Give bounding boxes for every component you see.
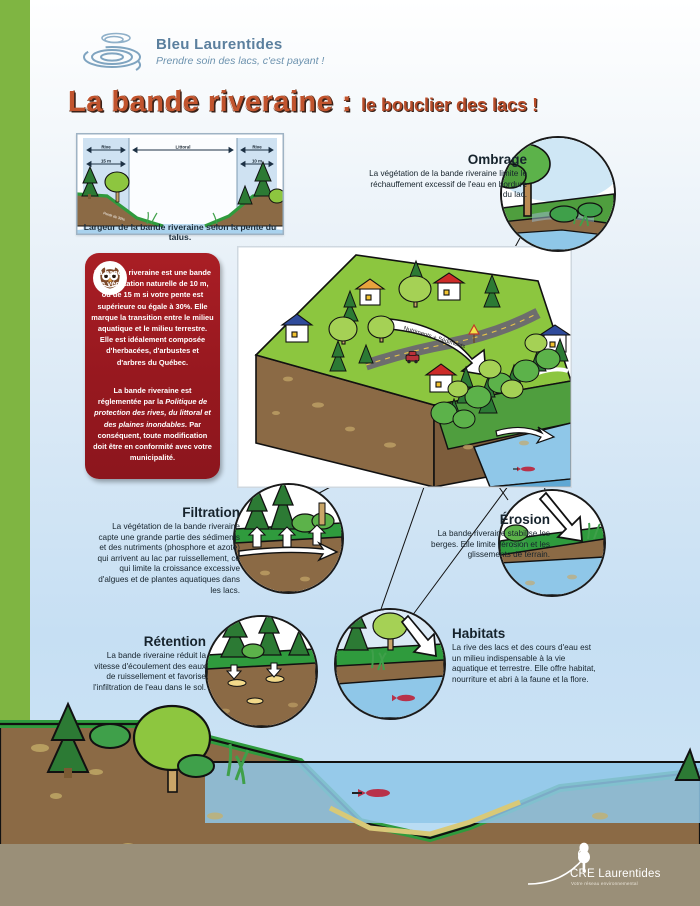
habitats-illustration — [334, 608, 446, 720]
cre-org-tagline: Votre réseau environnemental — [571, 881, 638, 886]
svg-text:Rive: Rive — [252, 145, 262, 150]
svg-text:Littoral: Littoral — [176, 145, 191, 150]
filtration-illustration — [233, 483, 344, 594]
page-title-sub: le bouclier des lacs ! — [361, 95, 538, 116]
cre-org-name: CRE Laurentides — [570, 868, 661, 880]
page-title-main: La bande riveraine : — [68, 86, 352, 119]
section-filtration: Filtration La végétation de la bande riv… — [92, 505, 240, 596]
section-ombrage-body: La végétation de la bande riveraine limi… — [362, 169, 527, 201]
section-habitats: Habitats La rive des lacs et des cours d… — [452, 626, 600, 685]
svg-text:10 m: 10 m — [252, 159, 262, 164]
page-title: La bande riveraine : le bouclier des lac… — [68, 86, 538, 119]
section-erosion-heading: Érosion — [430, 512, 550, 527]
section-erosion: Érosion La bande riveraine stabilise les… — [430, 512, 550, 561]
landscape-3d-block: Nutriments + Sédiments — [237, 246, 572, 488]
section-filtration-body: La végétation de la bande riveraine capt… — [92, 522, 240, 596]
section-habitats-heading: Habitats — [452, 626, 600, 641]
section-retention: Rétention La bande riveraine réduit la v… — [88, 634, 206, 693]
section-ombrage-heading: Ombrage — [362, 152, 527, 167]
water-ripples-icon — [78, 30, 150, 76]
cre-laurentides-logo: CRE Laurentides Votre réseau environneme… — [526, 840, 686, 896]
slope-width-diagram: Rive Littoral Rive 15 m 10 m Pente de 30… — [76, 133, 284, 235]
info-card-paragraph-1: La bande riveraine est une bande de végé… — [91, 267, 214, 368]
brand-logo-block: Bleu Laurentides Prendre soin des lacs, … — [78, 28, 408, 88]
brand-name: Bleu Laurentides — [156, 36, 324, 53]
section-retention-body: La bande riveraine réduit la vitesse d'é… — [88, 651, 206, 693]
section-retention-heading: Rétention — [88, 634, 206, 649]
infographic-page: Bleu Laurentides Prendre soin des lacs, … — [0, 0, 700, 906]
section-habitats-body: La rive des lacs et des cours d'eau est … — [452, 643, 600, 685]
brand-tagline: Prendre soin des lacs, c'est payant ! — [156, 55, 324, 67]
section-ombrage: Ombrage La végétation de la bande rivera… — [362, 152, 527, 201]
slope-diagram-caption: Largeur de la bande riveraine selon la p… — [76, 222, 284, 242]
section-erosion-body: La bande riveraine stabilise les berges.… — [430, 529, 550, 561]
info-card: La bande riveraine est une bande de végé… — [85, 253, 220, 479]
svg-text:15 m: 15 m — [101, 159, 111, 164]
retention-illustration — [205, 615, 318, 728]
section-filtration-heading: Filtration — [92, 505, 240, 520]
info-card-paragraph-2: La bande riveraine est réglementée par l… — [93, 385, 212, 463]
svg-text:Rive: Rive — [101, 145, 111, 150]
